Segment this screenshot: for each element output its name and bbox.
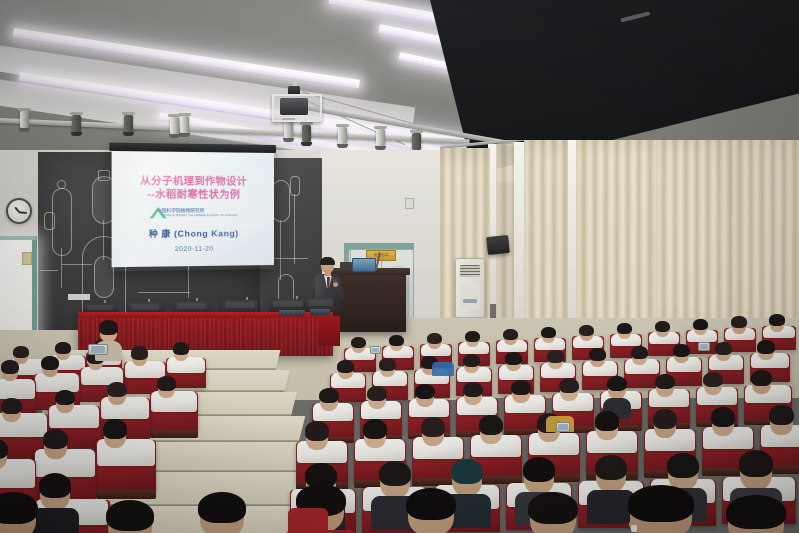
- audience-member: [542, 328, 555, 343]
- seat[interactable]: [150, 392, 198, 432]
- audience-member: [464, 384, 482, 405]
- audience-member: [716, 344, 731, 361]
- audience-member-foreground: [452, 462, 482, 496]
- ac-vent-icon: [460, 265, 480, 277]
- audience-member: [504, 330, 517, 345]
- smartphone: [698, 342, 710, 351]
- audience-member: [596, 414, 618, 440]
- wall-switch-plate[interactable]: [405, 198, 414, 209]
- audience-member-foreground: [524, 460, 554, 494]
- audience-member-closeup: [530, 496, 576, 533]
- audience-member: [590, 350, 605, 367]
- audience-member: [694, 320, 707, 335]
- audience-member: [654, 412, 676, 438]
- audience-member: [56, 344, 70, 360]
- audience-member: [466, 332, 479, 347]
- audience-member: [2, 400, 21, 422]
- audience-member-closeup: [630, 490, 692, 533]
- smartphone: [556, 422, 570, 432]
- audience-member: [704, 374, 722, 395]
- audience-member: [416, 386, 434, 407]
- audience-member: [2, 362, 18, 381]
- audience-member: [580, 326, 593, 341]
- audience-member: [380, 360, 395, 377]
- audience-member: [42, 358, 58, 377]
- audience-member: [632, 348, 647, 365]
- wall-speaker: [486, 235, 510, 255]
- audience-member: [108, 384, 126, 405]
- stage-spotlight: [20, 108, 31, 132]
- audience-member: [56, 392, 74, 413]
- audience-member: [338, 362, 353, 379]
- auditorium-photo: 中国科学院植物研究所 从分子机理到作物设计 --水稻耐寒性状为例 中国科学院植物…: [0, 0, 799, 533]
- audience-member: [752, 372, 771, 394]
- audience-member: [174, 344, 188, 361]
- audience-seating: [0, 300, 799, 533]
- door-frame-top: [0, 236, 36, 240]
- audience-member: [428, 334, 441, 349]
- audience-member: [0, 442, 7, 469]
- audience-member-photographer: [100, 322, 117, 342]
- audience-jacket: [432, 362, 454, 376]
- audience-member: [422, 420, 444, 446]
- audience-member-foreground: [380, 464, 410, 498]
- wall-clock: [6, 198, 32, 224]
- audience-member-closeup: [0, 496, 36, 533]
- exit-sign-left: [22, 252, 32, 265]
- audience-member: [758, 342, 774, 360]
- audience-member: [364, 422, 386, 448]
- smartphone: [88, 344, 108, 355]
- stage-spotlight: [338, 124, 349, 148]
- audience-member-foreground: [740, 454, 772, 490]
- audience-member-foreground: [40, 476, 70, 510]
- audience-member: [656, 322, 669, 337]
- audience-member: [548, 352, 563, 369]
- stage-spotlight: [302, 122, 313, 146]
- audience-member: [770, 408, 793, 435]
- audience-member-closeup: [200, 496, 244, 533]
- audience-member: [132, 348, 147, 366]
- laptop-on-podium: [352, 258, 376, 272]
- projection-screen: 中国科学院植物研究所 从分子机理到作物设计 --水稻耐寒性状为例 中国科学院植物…: [112, 143, 274, 272]
- audience-member: [368, 388, 386, 409]
- audience-member: [560, 380, 578, 401]
- slide-content: 从分子机理到作物设计 --水稻耐寒性状为例 中国科学院植物研究所 INSTITU…: [112, 151, 274, 267]
- projector: [272, 86, 318, 122]
- audience-member-closeup: [728, 500, 784, 533]
- stage-spotlight: [72, 112, 83, 136]
- audience-member: [674, 346, 689, 363]
- audience-member: [390, 336, 403, 351]
- audience-member-closeup: [408, 492, 454, 533]
- audience-member: [608, 378, 626, 399]
- audience-member: [44, 432, 67, 459]
- audience-member: [512, 382, 530, 403]
- stage-spotlight: [180, 113, 191, 137]
- audience-member: [480, 418, 502, 444]
- earbud: [631, 525, 637, 532]
- audience-member: [506, 354, 521, 371]
- audience-member: [618, 324, 631, 339]
- smartphone: [370, 346, 381, 354]
- audience-member-closeup: [108, 504, 152, 533]
- stage-spotlight: [376, 126, 387, 150]
- audience-member-foreground: [596, 458, 626, 492]
- audience-member-foreground: [668, 456, 698, 490]
- audience-member: [656, 376, 674, 397]
- audience-member: [732, 318, 746, 334]
- curtain-gap: [514, 142, 524, 320]
- audience-jacket: [288, 508, 328, 533]
- audience-member: [770, 316, 784, 332]
- audience-member: [712, 410, 734, 436]
- audience-member: [464, 356, 479, 373]
- audience-member: [306, 424, 328, 450]
- audience-member: [320, 390, 338, 411]
- stage-spotlight: [124, 112, 135, 136]
- audience-member: [104, 422, 126, 448]
- stage-spotlight: [170, 114, 181, 138]
- audience-member: [158, 378, 175, 398]
- audience-member: [352, 338, 365, 353]
